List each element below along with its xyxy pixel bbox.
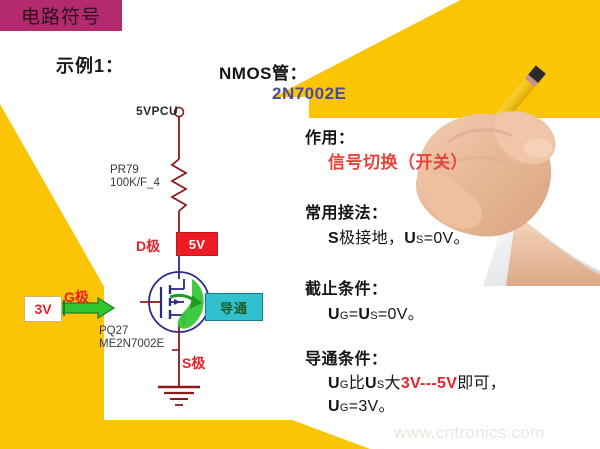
slide-title-badge: 电路符号	[0, 0, 122, 31]
on-u2: U	[365, 375, 377, 392]
mosfet-designator-block: PQ27 ME2N7002E	[99, 325, 164, 351]
cutoff-sub2: S	[370, 310, 378, 322]
on-sub1: G	[340, 379, 349, 391]
on-tail: 即可，	[457, 375, 506, 392]
example-label: 示例1：	[56, 52, 124, 78]
usage-eq: =0V。	[424, 230, 470, 247]
cutoff-eq2: =0V。	[378, 306, 424, 323]
drain-terminal-label: D极	[136, 236, 160, 256]
cutoff-sub1: G	[340, 310, 349, 322]
on-v1: 3V	[401, 375, 420, 392]
on-cmp: 比	[349, 375, 365, 392]
circuit-diagram-panel	[104, 97, 309, 420]
source-terminal-label: S极	[182, 353, 205, 373]
usage-s: S	[328, 230, 339, 247]
cutoff-value: UG=US=0V。	[328, 300, 424, 324]
on-dash: ---	[420, 375, 437, 392]
on-v2: 5V	[437, 375, 457, 392]
role-value: 信号切换（开关）	[328, 148, 468, 173]
usage-mid: 极接地，	[339, 230, 404, 247]
usage-u: U	[404, 230, 416, 247]
usage-sub: S	[416, 234, 424, 246]
cutoff-u2: U	[358, 306, 370, 323]
on2-u: U	[328, 398, 340, 415]
site-watermark: www.cntronics.com	[394, 423, 545, 443]
gate-voltage-callout: 3V	[24, 296, 62, 322]
slide-title-text: 电路符号	[21, 2, 101, 29]
on2-eq: =3V。	[349, 398, 395, 415]
resistor-value: 100K/F_4	[110, 177, 160, 190]
gate-terminal-label: G极	[64, 287, 89, 307]
role-heading: 作用：	[305, 124, 355, 148]
circuit-schematic-svg	[104, 97, 309, 420]
usage-heading: 常用接法：	[305, 199, 388, 223]
device-heading: NMOS管：	[219, 59, 307, 84]
mosfet-ref: PQ27	[99, 325, 164, 338]
mosfet-part: ME2N7002E	[99, 338, 164, 351]
on-u1: U	[328, 375, 340, 392]
resistor-designator-block: PR79 100K/F_4	[110, 164, 160, 190]
cutoff-eq1: =	[349, 306, 359, 323]
on2-sub: G	[340, 402, 349, 414]
usage-value: S极接地，US=0V。	[328, 224, 470, 248]
device-part-number: 2N7002E	[272, 84, 346, 104]
decor-yellow-left	[0, 104, 118, 449]
slide-canvas: 电路符号 示例1： 5VPCU PR79 100K/F_4 PQ27 ME2N7…	[0, 0, 600, 449]
turnon-value-line2: UG=3V。	[328, 392, 395, 416]
turnon-heading: 导通条件：	[305, 345, 388, 369]
net-label-supply: 5VPCU	[136, 104, 178, 118]
on-sub2: S	[377, 379, 385, 391]
conduction-state-callout: 导通	[205, 293, 263, 321]
on-big: 大	[385, 375, 401, 392]
cutoff-heading: 截止条件：	[305, 275, 388, 299]
resistor-ref: PR79	[110, 164, 160, 177]
cutoff-u1: U	[328, 306, 340, 323]
turnon-value-line1: UG比US大3V---5V即可，	[328, 369, 506, 393]
drain-voltage-callout: 5V	[176, 232, 218, 256]
